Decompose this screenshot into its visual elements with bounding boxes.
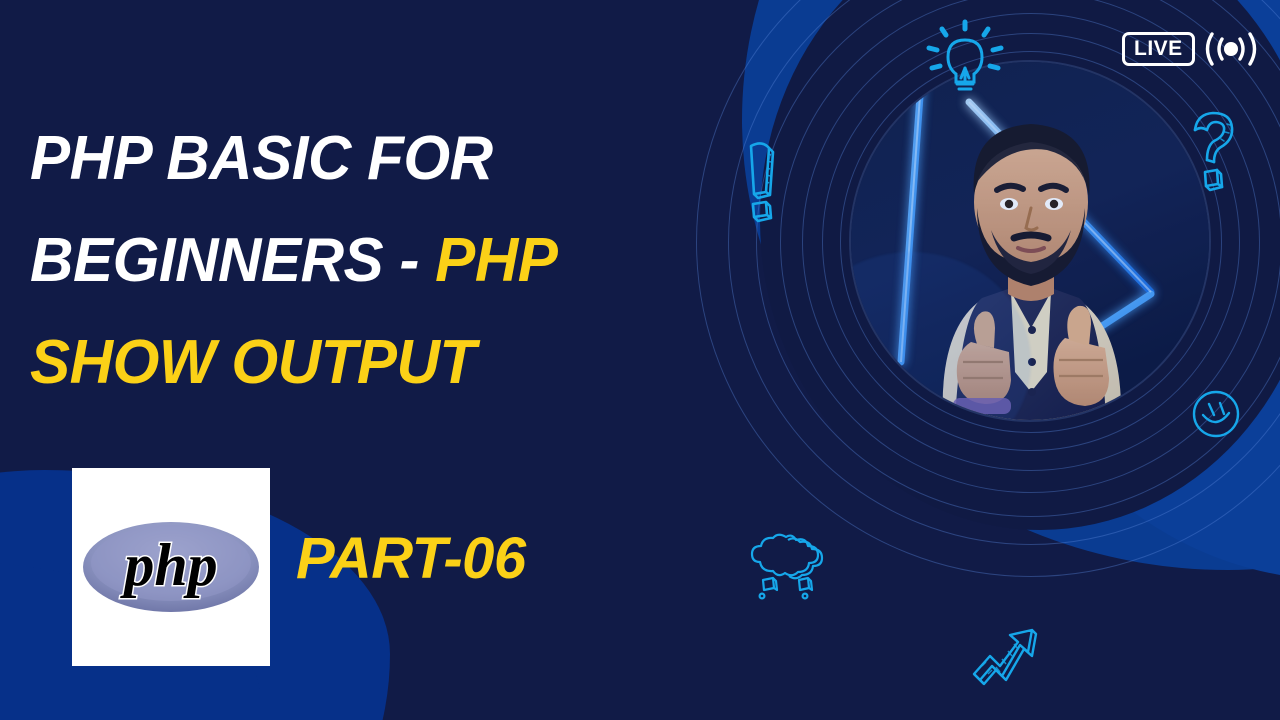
headline-line-2: BEGINNERS - PHP [30, 210, 709, 312]
headline-line-2-white: BEGINNERS - [30, 226, 435, 295]
headline-line-2-accent: PHP [435, 226, 557, 295]
broadcast-icon [1204, 30, 1258, 68]
headline-line-3: SHOW OUTPUT [30, 312, 709, 414]
svg-text:php: php [119, 532, 217, 598]
headline-line-1: PHP BASIC FOR [30, 108, 709, 210]
live-badge: LIVE [1122, 30, 1258, 68]
live-label: LIVE [1122, 32, 1195, 66]
php-logo: php [81, 517, 261, 617]
headline: PHP BASIC FOR BEGINNERS - PHP SHOW OUTPU… [30, 108, 730, 414]
thumbnail-canvas: PHP BASIC FOR BEGINNERS - PHP SHOW OUTPU… [0, 0, 1280, 720]
presenter-portrait [851, 62, 1209, 420]
part-label: PART-06 [296, 530, 526, 588]
php-logo-card: php [72, 468, 270, 666]
